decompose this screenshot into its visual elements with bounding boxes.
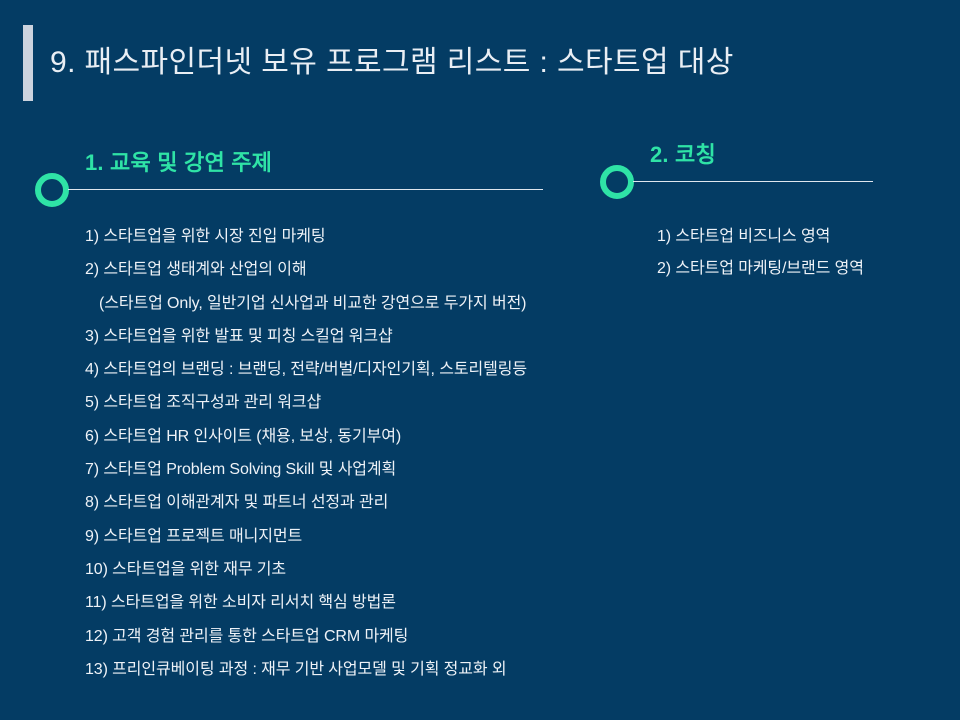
list-item: 1) 스타트업 비즈니스 영역	[657, 221, 940, 253]
list-item: 5) 스타트업 조직구성과 관리 워크샵	[85, 386, 595, 419]
section-divider	[68, 189, 543, 190]
section-divider	[633, 181, 873, 182]
section-education: 1. 교육 및 강연 주제 1) 스타트업을 위한 시장 진입 마케팅 2) 스…	[35, 150, 595, 686]
list-item: 6) 스타트업 HR 인사이트 (채용, 보상, 동기부여)	[85, 420, 595, 453]
list-item: 10) 스타트업을 위한 재무 기초	[85, 553, 595, 586]
list-item: 3) 스타트업을 위한 발표 및 피칭 스킬업 워크샵	[85, 320, 595, 353]
slide-title-row: 9. 패스파인더넷 보유 프로그램 리스트 : 스타트업 대상	[23, 24, 734, 102]
list-item: 11) 스타트업을 위한 소비자 리서치 핵심 방법론	[85, 586, 595, 619]
section-header: 1. 교육 및 강연 주제	[35, 150, 595, 206]
education-item-list: 1) 스타트업을 위한 시장 진입 마케팅 2) 스타트업 생태계와 산업의 이…	[85, 220, 595, 686]
list-item-note: (스타트업 Only, 일반기업 신사업과 비교한 강연으로 두가지 버전)	[85, 287, 595, 320]
list-item: 9) 스타트업 프로젝트 매니지먼트	[85, 520, 595, 553]
ring-bullet-icon	[35, 173, 69, 207]
list-item: 2) 스타트업 생태계와 산업의 이해	[85, 253, 595, 286]
coaching-item-list: 1) 스타트업 비즈니스 영역 2) 스타트업 마케팅/브랜드 영역	[657, 221, 940, 285]
list-item: 7) 스타트업 Problem Solving Skill 및 사업계획	[85, 453, 595, 486]
section-heading-1: 1. 교육 및 강연 주제	[85, 150, 272, 176]
section-coaching: 2. 코칭 1) 스타트업 비즈니스 영역 2) 스타트업 마케팅/브랜드 영역	[600, 142, 940, 285]
section-heading-2: 2. 코칭	[650, 142, 716, 168]
list-item: 13) 프리인큐베이팅 과정 : 재무 기반 사업모델 및 기획 정교화 외	[85, 653, 595, 686]
list-item: 8) 스타트업 이해관계자 및 파트너 선정과 관리	[85, 486, 595, 519]
list-item: 1) 스타트업을 위한 시장 진입 마케팅	[85, 220, 595, 253]
slide: 9. 패스파인더넷 보유 프로그램 리스트 : 스타트업 대상 1. 교육 및 …	[0, 0, 960, 720]
section-header: 2. 코칭	[600, 142, 940, 198]
title-accent-bar	[23, 25, 33, 101]
ring-bullet-icon	[600, 165, 634, 199]
list-item: 12) 고객 경험 관리를 통한 스타트업 CRM 마케팅	[85, 620, 595, 653]
list-item: 2) 스타트업 마케팅/브랜드 영역	[657, 253, 940, 285]
page-title: 9. 패스파인더넷 보유 프로그램 리스트 : 스타트업 대상	[50, 48, 734, 78]
list-item: 4) 스타트업의 브랜딩 : 브랜딩, 전략/버벌/디자인기획, 스토리텔링등	[85, 353, 595, 386]
